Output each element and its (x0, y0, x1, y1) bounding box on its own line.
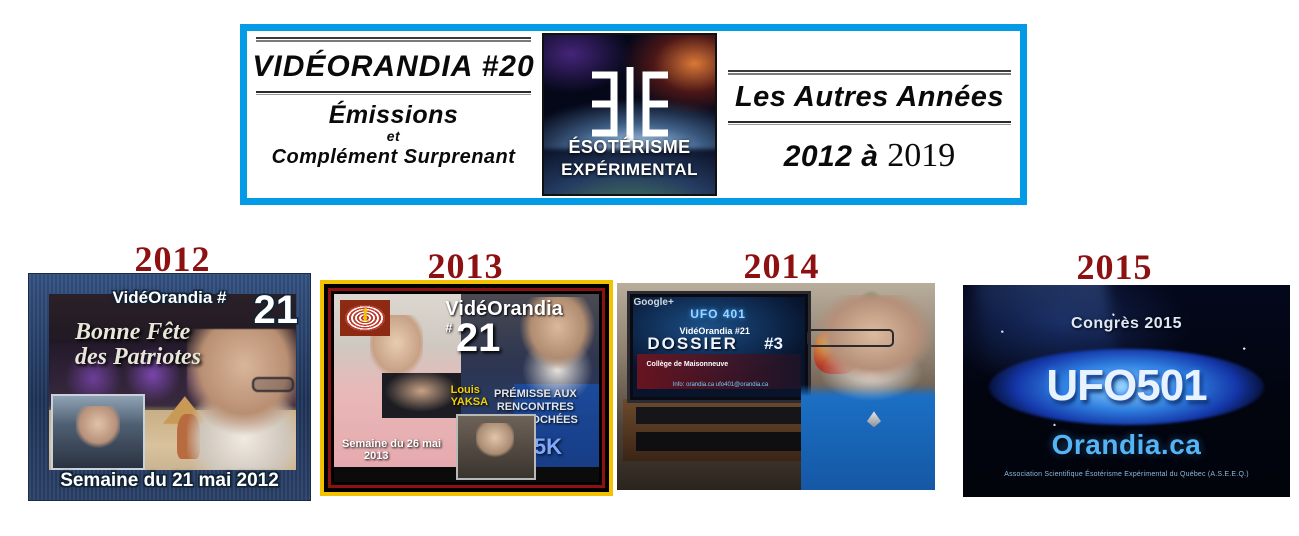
video-frame-2013: 1 VidéOrandia # 21 Louis YAKSA PRÉMISSE … (334, 294, 599, 482)
google-plus-label: Google+ (634, 297, 674, 308)
hash-symbol-2013: # (445, 320, 452, 335)
association-label: Association Scientifique Ésotérisme Expé… (963, 471, 1290, 478)
dossier-label: DOSSIER (647, 334, 738, 354)
divider-mid-left (256, 91, 531, 95)
dossier-number: #3 (764, 334, 783, 354)
glasses-icon (807, 329, 894, 347)
caption-2012: Semaine du 21 mai 2012 (29, 470, 310, 492)
television-screen: Google+ UFO 401 VidéOrandia #21 DOSSIER … (627, 291, 811, 403)
ufo501-logo-text: UFO501 (963, 361, 1290, 411)
caption-line2: 2013 (364, 450, 388, 462)
caption-line1: Semaine du 26 mai (342, 438, 441, 450)
year-range-to: 2019 (887, 137, 955, 174)
host-portrait-2014 (801, 295, 935, 490)
esoterisme-experimental-logo: ÉSOTÉRISME EXPÉRIMENTAL (542, 33, 717, 196)
episode-number-2013: 21 (456, 318, 501, 358)
station-logo-icon: 1 (340, 300, 390, 336)
background-guest (382, 373, 462, 418)
thumbnail-2012[interactable]: Bonne Fête des Patriotes VidéOrandia # 2… (28, 273, 311, 501)
premise-line2: RENCONTRES (497, 401, 574, 413)
pip-face (476, 423, 514, 458)
screen-lower-panel: Collège de Maisonneuve Info: orandia.ca … (637, 354, 801, 390)
av-receiver (636, 407, 801, 424)
banner-subtitle-emissions: Émissions (329, 101, 459, 129)
headline-line2: des Patriotes (75, 344, 201, 370)
logo-text-line1: ÉSOTÉRISME (544, 137, 715, 158)
banner-years-title: Les Autres Années (735, 77, 1004, 117)
year-label-2014: 2014 (724, 245, 839, 287)
banner-year-range: 2012 à 2019 (784, 135, 956, 178)
year-range-from: 2012 à (784, 140, 879, 173)
banner-subtitle-et: et (387, 128, 400, 144)
episode-number-2012: 21 (254, 288, 299, 333)
esoterisme-symbol-icon (584, 65, 676, 143)
venue-label: Collège de Maisonneuve (647, 361, 729, 368)
ufo-401-logo: UFO 401 (690, 307, 746, 321)
contact-info: Info: orandia.ca ufo401@orandia.ca (673, 382, 769, 388)
divider-mid-right (728, 121, 1011, 125)
banner-right-column: Les Autres Années 2012 à 2019 (719, 31, 1020, 198)
badge-number: 1 (360, 304, 370, 327)
av-player (636, 432, 801, 451)
congres-label: Congrès 2015 (963, 315, 1290, 333)
glasses-icon (252, 377, 295, 392)
header-banner: VIDÉORANDIA #20 Émissions et Complément … (240, 24, 1027, 205)
site-label: Orandia.ca (963, 429, 1290, 461)
premise-line1: PRÉMISSE AUX (494, 388, 577, 400)
thumbnail-2014[interactable]: Google+ UFO 401 VidéOrandia #21 DOSSIER … (617, 283, 935, 490)
divider-top-left (256, 37, 531, 42)
banner-subtitle-complement: Complément Surprenant (272, 145, 516, 169)
headline-text-2012: Bonne Fête des Patriotes (75, 320, 201, 370)
host-portrait (187, 329, 296, 470)
banner-left-column: VIDÉORANDIA #20 Émissions et Complément … (247, 31, 540, 198)
pip-face (76, 406, 119, 451)
picture-in-picture-2013 (456, 414, 536, 480)
thumbnail-2013[interactable]: 1 VidéOrandia # 21 Louis YAKSA PRÉMISSE … (320, 280, 613, 496)
thumbnail-2015[interactable]: Congrès 2015 UFO501 Orandia.ca Associati… (963, 285, 1290, 497)
divider-top-right (728, 70, 1011, 75)
caption-2013: Semaine du 26 mai 2013 (342, 438, 441, 462)
banner-title: VIDÉORANDIA #20 (252, 46, 534, 88)
logo-text-line2: EXPÉRIMENTAL (544, 160, 715, 180)
headline-line1: Bonne Fête (75, 319, 190, 345)
year-label-2015: 2015 (1057, 246, 1172, 288)
picture-in-picture-2012 (51, 394, 145, 470)
